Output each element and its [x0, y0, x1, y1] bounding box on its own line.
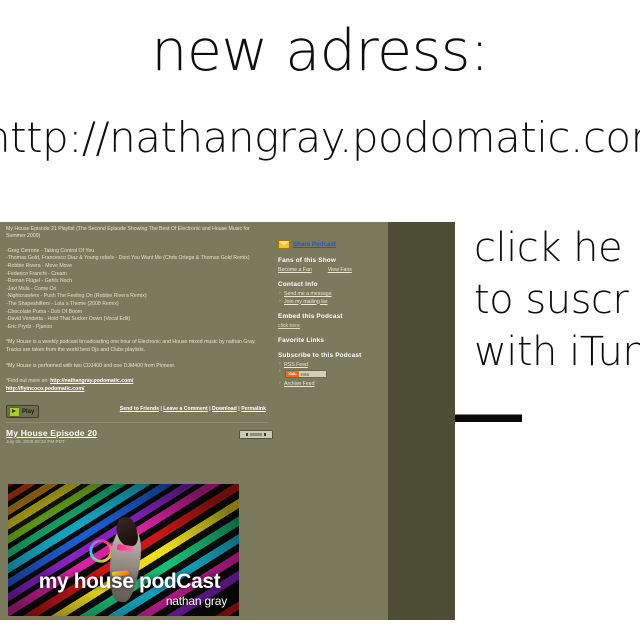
become-a-fan-link[interactable]: Become a Fan	[278, 267, 312, 273]
podomatic-link-primary[interactable]: http://nathangray.podomatic.com/	[50, 378, 133, 384]
player-progress-bar[interactable]	[250, 433, 262, 436]
fans-links: Become a Fan View Fans	[278, 267, 382, 273]
post-21-action-row: Play Send to Friends | Leave a Comment |…	[6, 405, 268, 419]
permalink-link[interactable]: Permalink	[241, 406, 266, 412]
xml-badge-sub: RSS	[299, 372, 309, 377]
track-item: -Nightcrawlers - Push The Feeling On (Ro…	[6, 293, 268, 301]
subscribe-heading: Subscribe to this Podcast	[278, 352, 382, 359]
track-item: -Robbie Rivera - Move Move	[6, 263, 268, 271]
xml-badge-label: XML	[286, 371, 299, 377]
caption-line-3: with iTun	[474, 326, 640, 378]
play-icon	[9, 407, 20, 417]
rss-feed-link[interactable]: RSS Feed	[284, 362, 308, 368]
xml-badge-icon[interactable]: XML RSS	[285, 370, 327, 378]
track-item: -Thomas Gold, Francesco Diaz & Young reb…	[6, 255, 268, 263]
contact-info-heading: Contact Info	[278, 281, 382, 288]
player-play-glyph	[246, 433, 248, 436]
post-episode-20: My House Episode 20 July 06, 2009 09:32 …	[6, 428, 274, 444]
subscribe-caption: click he to suscr with iTun	[474, 222, 640, 378]
track-item: -Chocolate Puma - Dub Of Boom	[6, 309, 268, 317]
podcast-url-text: http://nathangray.podomatic.com	[0, 113, 640, 162]
join-mailing-list-link[interactable]: Join my mailing list	[284, 299, 328, 305]
leave-a-comment-link[interactable]: Leave a Comment	[163, 406, 207, 412]
download-link[interactable]: Download	[212, 406, 237, 412]
track-item: -The Shapeshifters - Lola`s Theme (2008 …	[6, 301, 268, 309]
send-me-a-message-link[interactable]: Send me a message	[284, 291, 332, 297]
fans-heading: Fans of this Show	[278, 257, 382, 264]
track-item: -Roman Flügel - Gehts Noch	[6, 278, 268, 286]
episode-20-date: July 06, 2009 09:32 PM PDT	[6, 439, 274, 444]
track-item: -Federico Franchi - Cream	[6, 271, 268, 279]
track-item: -Greg Cerrone - Taking Control Of You	[6, 248, 268, 256]
track-item: -Eric Prydz - Pjanoo	[6, 324, 268, 332]
send-to-friends-link[interactable]: Send to Friends	[120, 406, 159, 412]
rss-feed-item[interactable]: RSS Feed	[284, 362, 382, 368]
post-21-footer-links: Send to Friends | Leave a Comment | Down…	[120, 406, 266, 412]
favorite-links-heading: Favorite Links	[278, 337, 382, 344]
artwork-title: my house podCast	[22, 570, 237, 594]
embed-heading: Embed this Podcast	[278, 313, 382, 320]
page-sidebar: Share Podcast Fans of this Show Become a…	[278, 240, 382, 387]
join-mailing-list-item[interactable]: Join my mailing list	[284, 299, 382, 305]
play-button[interactable]: Play	[6, 405, 39, 418]
find-out-more-block: *Find out more on: http://nathangray.pod…	[6, 378, 268, 393]
artwork-subtitle: nathan gray	[22, 594, 237, 608]
caption-line-1: click he	[474, 222, 640, 274]
archive-feed-item[interactable]: Archive Feed	[284, 381, 382, 387]
envelope-icon	[278, 240, 290, 249]
podomatic-link-secondary[interactable]: http://flyincoco.podomatic.com/	[6, 386, 84, 392]
play-button-label: Play	[22, 409, 34, 415]
track-item: -David Vendetta - Hold That Sucker Down …	[6, 316, 268, 324]
player-stop-glyph	[264, 433, 266, 436]
description-paragraph-1: *My House is a weekly podcast broadcasti…	[6, 339, 268, 354]
post-divider	[6, 422, 268, 423]
episode-20-title[interactable]: My House Episode 20	[6, 428, 274, 438]
share-podcast-row[interactable]: Share Podcast	[278, 240, 382, 249]
track-item: -Javi Mula - Come On	[6, 286, 268, 294]
archive-feed-link[interactable]: Archive Feed	[284, 381, 315, 387]
episode-21-header: My House Episode 21 Playlist (The Second…	[6, 226, 268, 241]
send-me-a-message-item[interactable]: Send me a message	[284, 291, 382, 297]
view-fans-link[interactable]: View Fans	[328, 267, 352, 273]
page-title: new adress:	[0, 18, 640, 84]
embed-click-here-link[interactable]: click here	[278, 323, 382, 329]
caption-line-2: to suscr	[474, 274, 640, 326]
share-podcast-link[interactable]: Share Podcast	[293, 241, 336, 248]
xml-badge-item[interactable]: XML RSS	[284, 369, 382, 379]
find-out-more-label: *Find out more on:	[6, 378, 49, 384]
description-paragraph-2: *My House is performed with two CDJ400 a…	[6, 363, 268, 371]
audio-player-icon[interactable]	[239, 430, 273, 439]
episode-21-tracklist: -Greg Cerrone - Taking Control Of You -T…	[6, 248, 268, 332]
episode-20-artwork: my house podCast nathan gray	[8, 484, 239, 616]
post-episode-21: My House Episode 21 Playlist (The Second…	[6, 226, 268, 393]
